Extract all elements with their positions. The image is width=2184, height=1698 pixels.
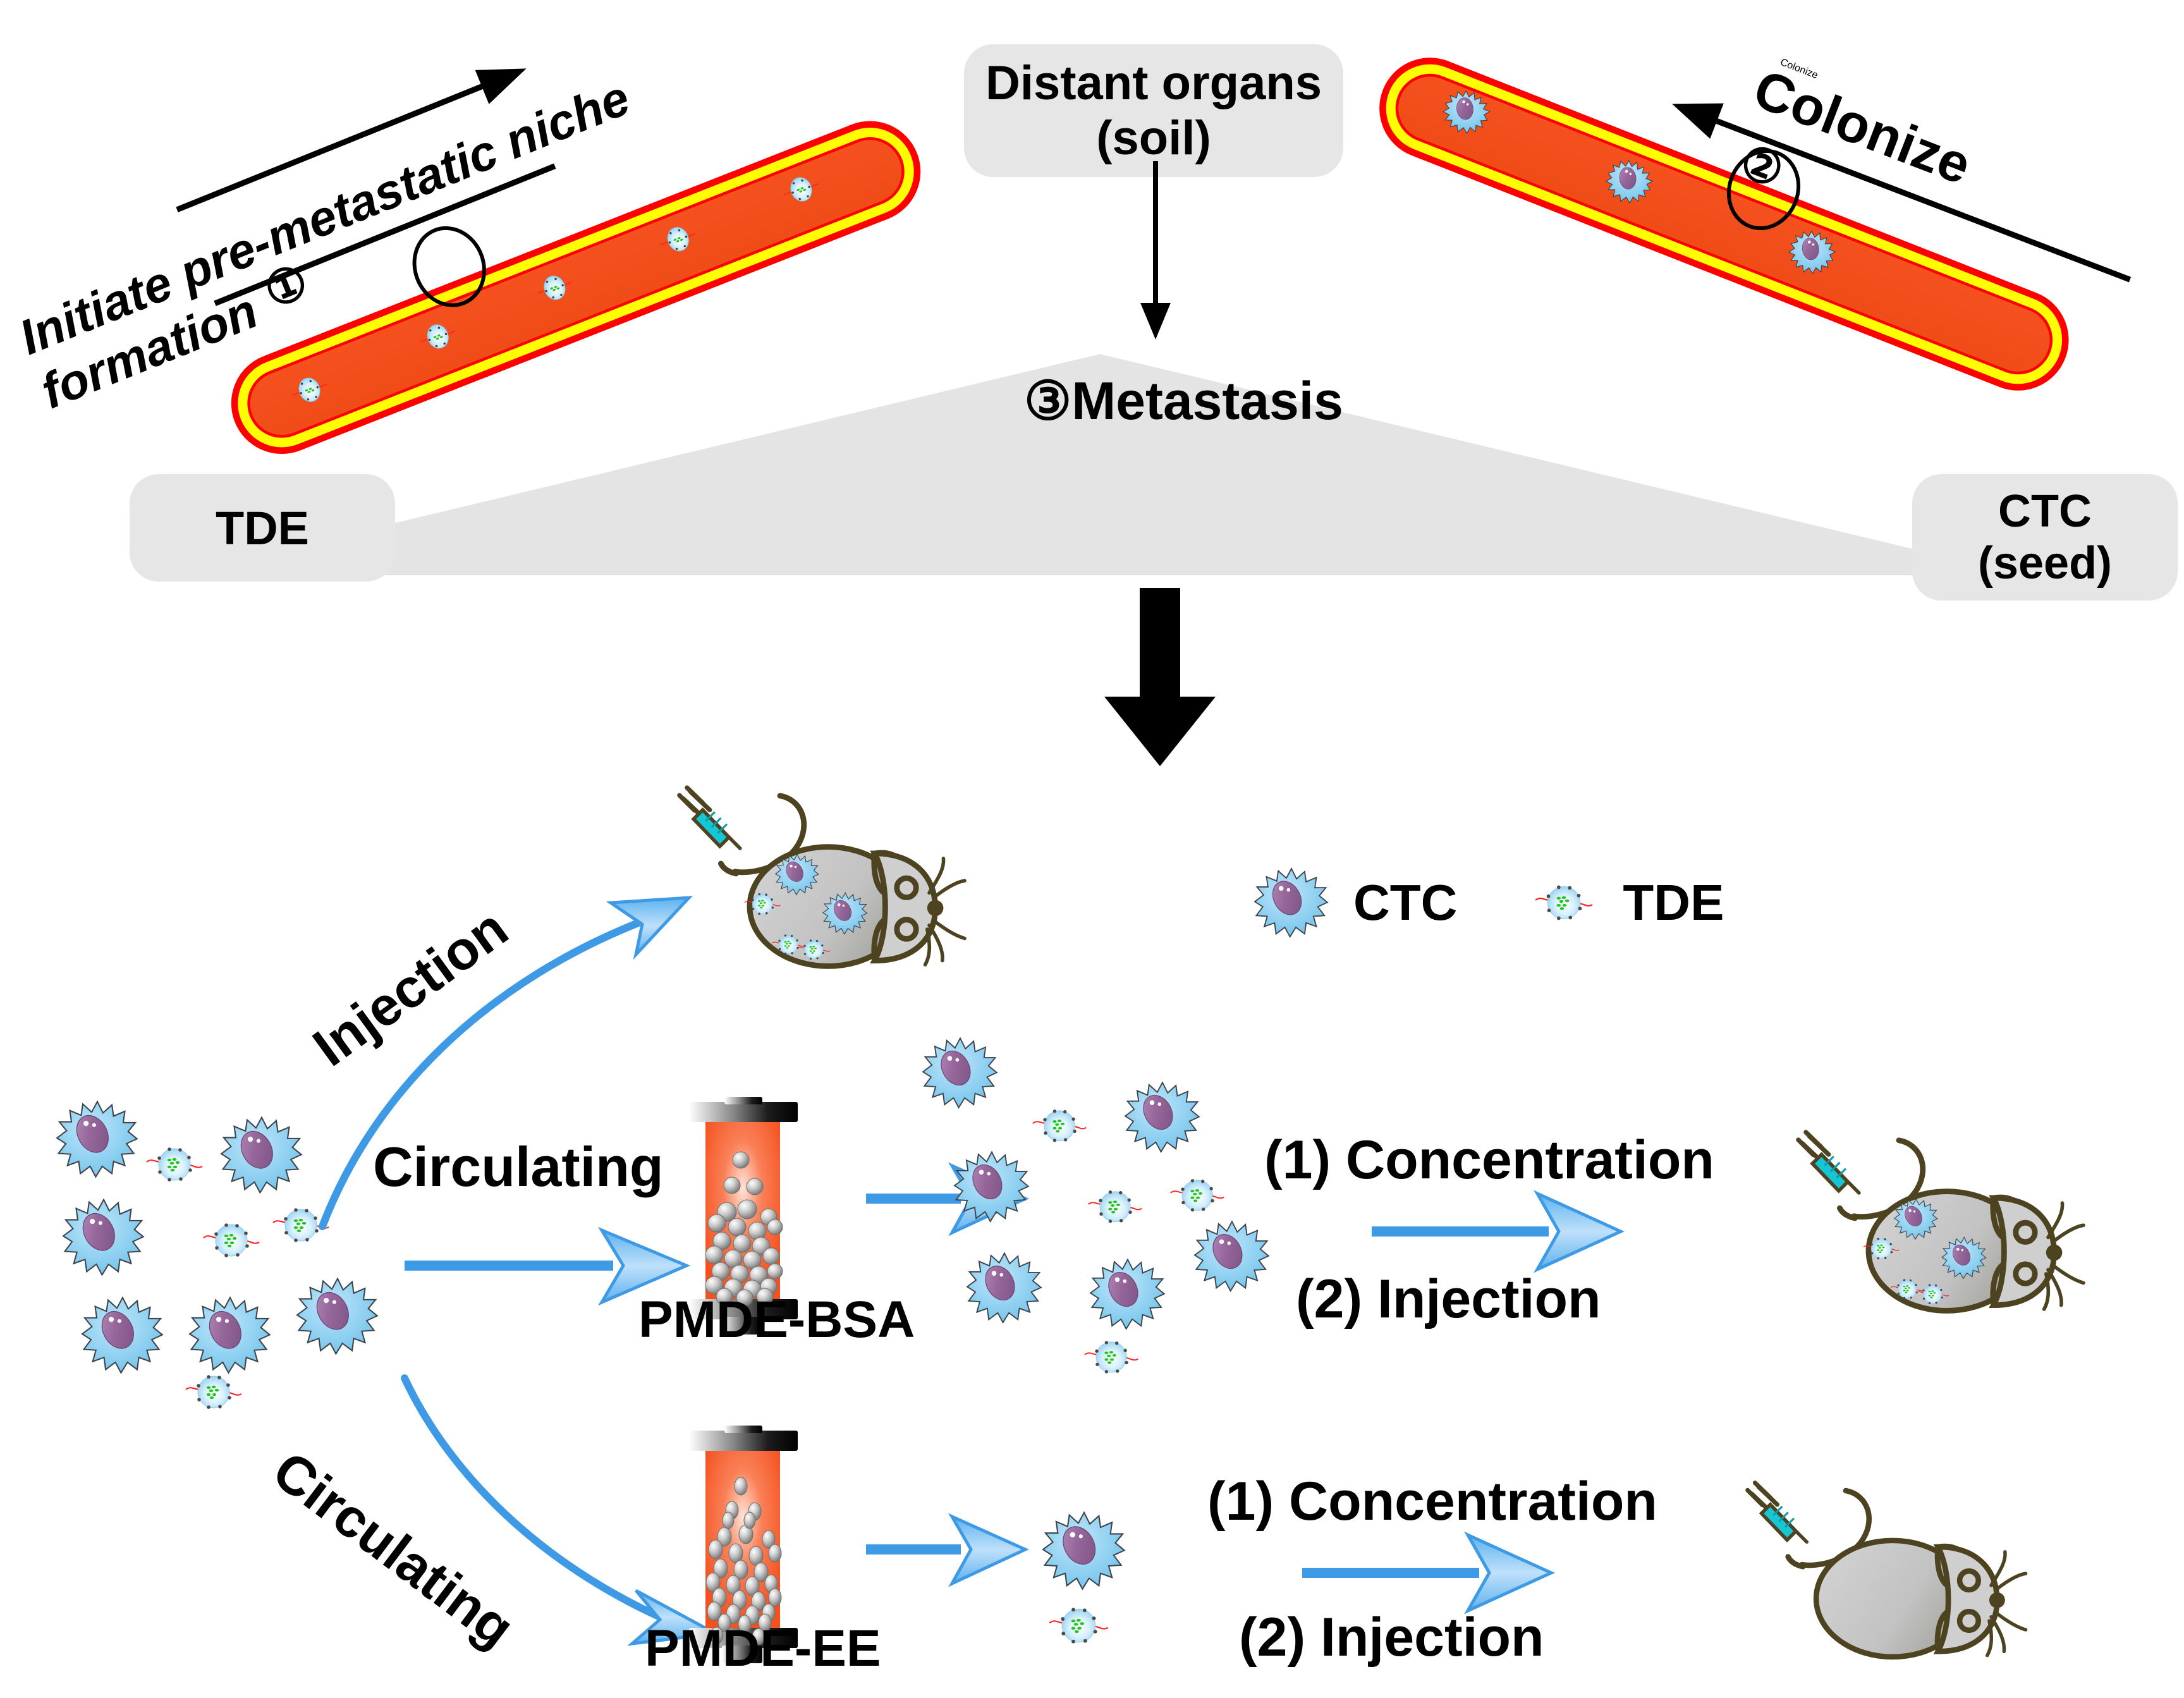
- pill-ctc-line2: (seed): [1978, 537, 2112, 589]
- pill-ctc-line1: CTC: [1978, 486, 2112, 537]
- ctc-cell-icon: [1255, 866, 1328, 939]
- bsa-step-1: (1) Concentration: [1264, 1132, 1714, 1188]
- pill-ctc-seed: CTC (seed): [1912, 474, 2178, 601]
- step-1-ring: [386, 209, 512, 322]
- legend: CTC TDE: [1255, 866, 1724, 939]
- ee-step-1: (1) Concentration: [1207, 1473, 1657, 1530]
- legend-item-tde: TDE: [1533, 876, 1724, 929]
- bsa-step-2: (2) Injection: [1296, 1271, 1601, 1328]
- pmde-bsa-label: PMDE-BSA: [638, 1293, 915, 1347]
- bsa-output-population: [917, 1075, 1309, 1416]
- circulating-label-bsa: Circulating: [373, 1138, 664, 1196]
- ee-step-2: (2) Injection: [1239, 1609, 1544, 1666]
- legend-label-tde: TDE: [1623, 876, 1724, 929]
- figure-canvas: Initiate pre-metastatic niche formation …: [0, 0, 2184, 1698]
- pmde-ee-label: PMDE-EE: [645, 1622, 881, 1676]
- arrow-ee-output: [866, 1514, 1030, 1590]
- big-down-arrow: [1103, 588, 1242, 778]
- step-2-ring: [1694, 126, 1833, 253]
- mouse-bsa-target: [1795, 1122, 2184, 1394]
- arrow-bsa-to-mouse: [1365, 1188, 1631, 1277]
- metastasis-arrow: [1138, 161, 1214, 345]
- distant-organs-box: Distant organs (soil): [964, 44, 1343, 177]
- distant-organs-line2: (soil): [985, 111, 1322, 166]
- legend-item-ctc: CTC: [1255, 866, 1457, 939]
- metastasis-label: ③Metastasis: [1024, 373, 1343, 429]
- mouse-injection-target: [676, 778, 1081, 1049]
- tde-exosome-icon: [1533, 880, 1595, 925]
- distant-organs-line1: Distant organs: [985, 56, 1322, 111]
- pill-tde: TDE: [130, 474, 395, 582]
- legend-label-ctc: CTC: [1353, 876, 1457, 929]
- mouse-ee-target: [1745, 1473, 2149, 1698]
- ee-output-population: [1043, 1511, 1207, 1688]
- arrow-ee-to-mouse: [1296, 1530, 1561, 1618]
